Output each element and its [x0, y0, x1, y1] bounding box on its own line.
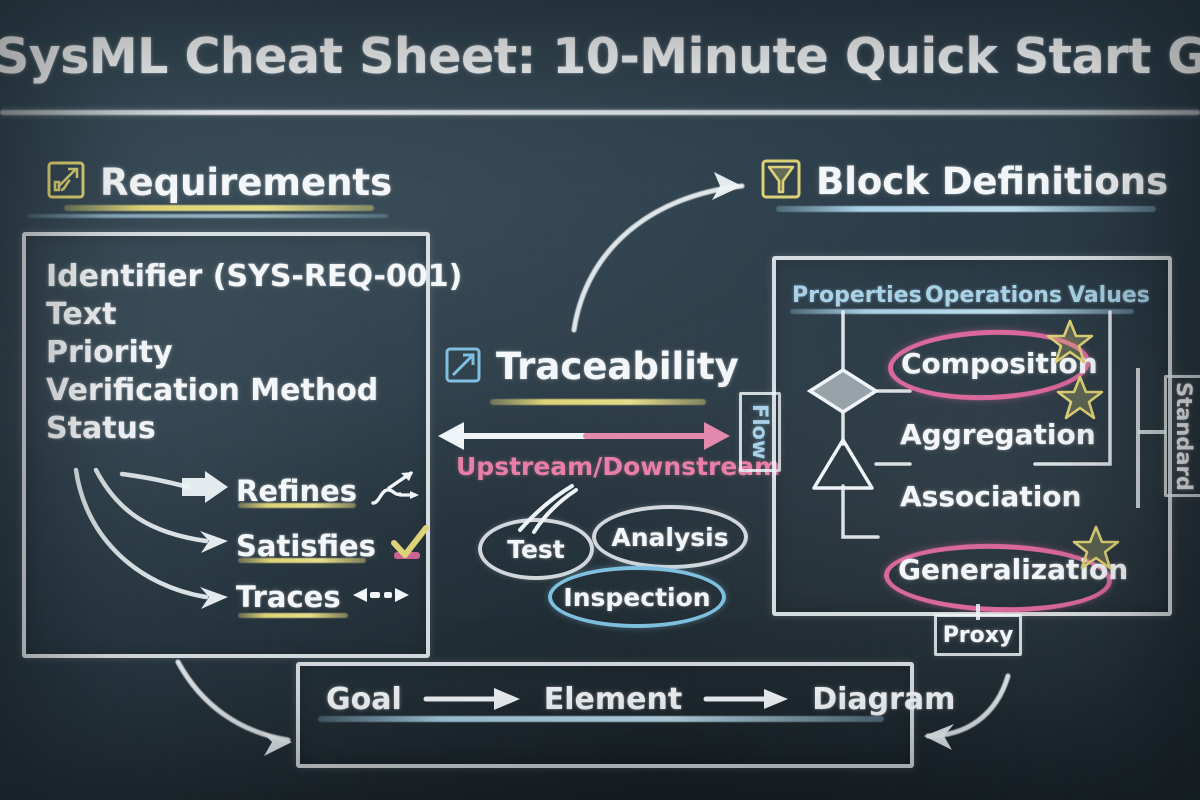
check-mark-icon — [386, 524, 434, 568]
workflow-step-element: Element — [544, 682, 682, 717]
block-column-operations: Operations — [925, 283, 1062, 308]
relation-satisfies-underline — [238, 558, 366, 563]
requirements-heading-underline-yellow — [64, 205, 374, 211]
relation-traces: Traces — [236, 580, 411, 614]
traceability-heading: Traceability — [444, 345, 739, 388]
verification-bubble-test[interactable]: Test — [478, 518, 594, 580]
page-title: SysML Cheat Sheet: 10-Minute Quick Start… — [0, 28, 1200, 85]
requirements-heading-underline-white — [28, 214, 388, 218]
requirement-attribute: Status — [46, 410, 462, 448]
verification-bubble-inspection[interactable]: Inspection — [548, 566, 726, 628]
verification-bubble-analysis-label: Analysis — [611, 523, 728, 552]
requirement-attribute: Priority — [46, 334, 462, 372]
upstream-downstream-label: Upstream/Downstream — [456, 452, 780, 481]
requirement-attribute: Text — [46, 296, 462, 334]
proxy-label: Proxy — [943, 623, 1014, 648]
trend-arrow-icon — [367, 470, 421, 512]
workflow-step-goal: Goal — [326, 682, 402, 717]
arrowhead-to-workflow-right — [924, 724, 954, 750]
block-column-properties: Properties — [792, 283, 922, 308]
verification-bubble-analysis[interactable]: Analysis — [592, 505, 748, 569]
workflow-underline — [318, 716, 884, 722]
proxy-label-box: Proxy — [934, 614, 1022, 656]
arrowhead-to-blocks — [712, 172, 742, 200]
star-icon — [1072, 524, 1120, 570]
relation-traces-underline — [238, 613, 348, 618]
standard-connector — [1134, 368, 1174, 508]
verification-bubble-test-label: Test — [507, 535, 565, 564]
requirements-heading-label: Requirements — [100, 161, 392, 204]
title-underline — [0, 110, 1200, 115]
chart-in-box-icon — [46, 160, 86, 204]
arrow-right-icon — [704, 686, 790, 712]
triangle-notation-icon — [814, 440, 872, 488]
block-relationship-association: Association — [900, 480, 1081, 513]
blocks-heading-label: Block Definitions — [816, 160, 1168, 203]
proxy-connector — [968, 604, 988, 620]
diamond-notation-icon — [810, 370, 876, 412]
requirements-attribute-list: Identifier (SYS-REQ-001) Text Priority V… — [46, 258, 462, 448]
star-icon — [1046, 318, 1094, 364]
blocks-heading-underline — [776, 206, 1156, 212]
block-relationship-aggregation: Aggregation — [900, 418, 1096, 451]
verification-bubble-inspection-label: Inspection — [563, 583, 710, 612]
requirement-attribute: Verification Method — [46, 372, 462, 410]
block-column-values: Values — [1068, 283, 1150, 308]
relation-traces-label: Traces — [236, 580, 341, 614]
requirement-attribute: Identifier (SYS-REQ-001) — [46, 258, 462, 296]
workflow-step-diagram: Diagram — [812, 682, 955, 717]
traceability-heading-label: Traceability — [496, 345, 739, 388]
requirements-heading: Requirements — [46, 160, 392, 204]
standard-label: Standard — [1172, 382, 1196, 491]
block-box-icon — [760, 158, 802, 204]
flow-label: Flow — [748, 404, 772, 459]
arrow-in-box-icon — [444, 346, 482, 388]
bidirectional-dashed-arrow-icon — [351, 580, 411, 614]
traceability-heading-underline — [490, 399, 706, 405]
relation-refines-underline — [238, 503, 356, 508]
blocks-heading: Block Definitions — [760, 158, 1168, 204]
arrow-right-icon — [424, 686, 522, 712]
arrow-traceability-to-blocks — [574, 186, 742, 330]
arrow-requirements-to-workflow — [178, 662, 288, 740]
star-icon — [1056, 374, 1104, 420]
